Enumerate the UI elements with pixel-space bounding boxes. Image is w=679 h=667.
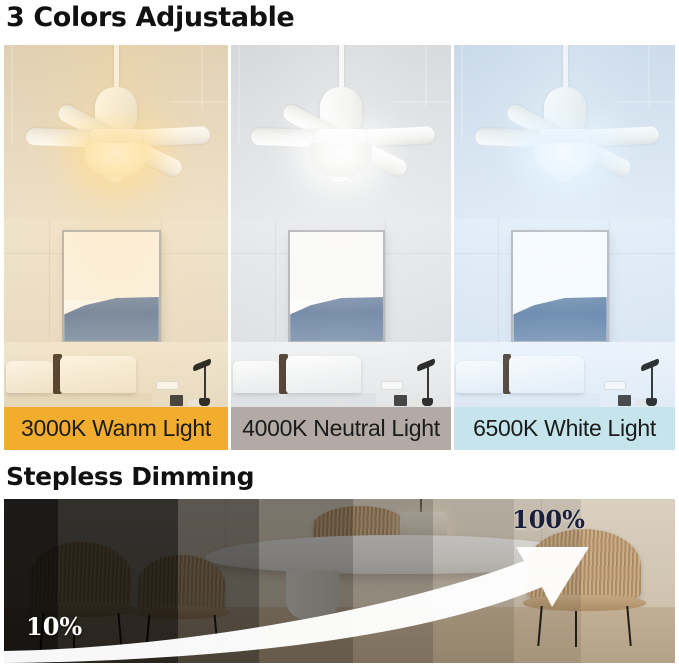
dining-room-scene: 10% 100% (4, 499, 675, 663)
desk-lamp-base (199, 398, 210, 406)
pillow (456, 361, 502, 392)
nightstand-object (635, 399, 646, 406)
fan-downrod (563, 45, 568, 91)
color-panel-warm: 3000K Wanm Light (4, 45, 228, 450)
artwork-upper-field (513, 232, 606, 300)
pillow (233, 361, 279, 392)
wall-socket (604, 381, 626, 390)
pillow (6, 361, 53, 392)
nightstand-object (618, 395, 631, 405)
dimming-demo-panel: 10% 100% (4, 499, 675, 663)
ceiling-moulding (11, 45, 13, 143)
fan-downrod (339, 45, 344, 91)
ceiling-moulding (461, 45, 463, 143)
desk-lamp-head (415, 359, 436, 372)
bedroom-scene-warm (4, 45, 228, 407)
framed-artwork (288, 230, 385, 343)
artwork-blue-wave (513, 295, 606, 341)
color-panel-neutral: 4000K Neutral Light (231, 45, 451, 450)
ceiling-moulding (394, 101, 451, 103)
desk-lamp-base (646, 398, 657, 406)
dimming-min-label: 10% (26, 612, 82, 641)
dimming-max-label: 100% (512, 505, 585, 534)
color-label-cool: 6500K White Light (454, 407, 675, 450)
color-comparison-strip: 3000K Wanm Light (4, 45, 675, 450)
pillow (509, 356, 584, 392)
artwork-upper-field (64, 232, 159, 300)
mattress (4, 393, 152, 407)
mattress (454, 393, 600, 407)
nightstand-object (188, 399, 199, 406)
bed-area (4, 342, 228, 407)
product-infographic: 3 Colors Adjustable (0, 0, 679, 667)
pillow (286, 356, 361, 392)
ceiling-moulding (201, 45, 203, 109)
nightstand-object (411, 399, 422, 406)
bed-area (454, 342, 675, 407)
artwork-upper-field (290, 232, 383, 300)
mattress (231, 393, 376, 407)
desk-lamp-base (422, 398, 433, 406)
fan-downrod (114, 45, 119, 91)
color-panel-cool: 6500K White Light (454, 45, 675, 450)
desk-lamp-head (192, 358, 213, 371)
pillow (60, 356, 136, 392)
color-label-neutral: 4000K Neutral Light (231, 407, 451, 450)
ceiling-moulding (238, 45, 240, 143)
framed-artwork (511, 230, 608, 343)
artwork-blue-wave (64, 295, 159, 341)
artwork-blue-wave (290, 295, 383, 341)
colors-section-heading: 3 Colors Adjustable (6, 4, 294, 31)
wall-socket (381, 381, 403, 390)
framed-artwork (62, 230, 161, 343)
color-label-warm: 3000K Wanm Light (4, 407, 228, 450)
bedroom-scene-neutral (231, 45, 451, 407)
nightstand-object (170, 395, 183, 405)
dimming-section-heading: Stepless Dimming (6, 464, 254, 489)
ceiling-moulding (618, 101, 675, 103)
bed-area (231, 342, 451, 407)
wall-socket (156, 381, 178, 390)
bedroom-scene-cool (454, 45, 675, 407)
ceiling-moulding (425, 45, 427, 109)
ceiling-moulding (648, 45, 650, 109)
ceiling-moulding (170, 101, 228, 103)
desk-lamp-head (639, 359, 660, 372)
nightstand-object (394, 395, 407, 405)
